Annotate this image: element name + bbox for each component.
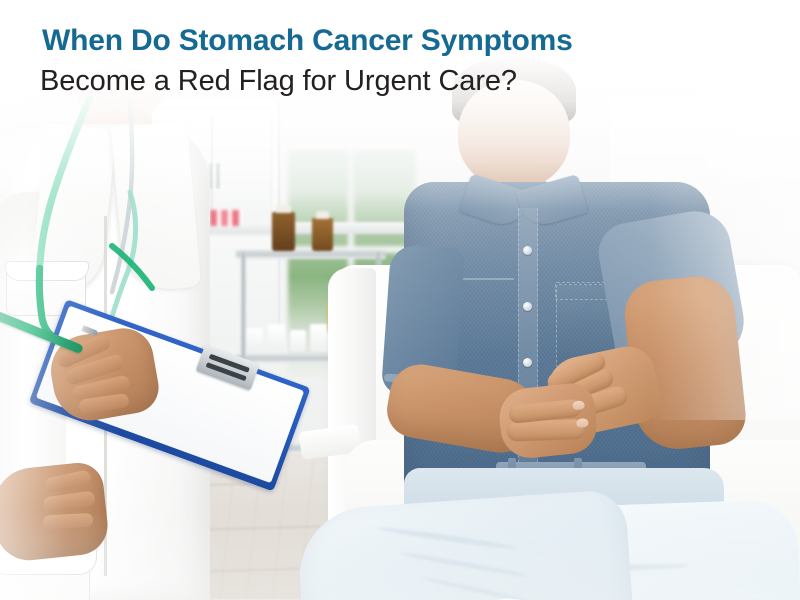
headline-line-1: When Do Stomach Cancer Symptoms xyxy=(42,22,742,60)
doctor-figure xyxy=(0,96,280,600)
headline-block: When Do Stomach Cancer Symptoms Become a… xyxy=(42,22,742,100)
patient-left-hand xyxy=(497,381,600,461)
shirt-button xyxy=(523,302,532,311)
article-banner: When Do Stomach Cancer Symptoms Become a… xyxy=(0,0,800,600)
amber-medicine-bottle xyxy=(312,218,333,251)
patient-figure xyxy=(380,96,780,600)
doctor-supporting-hand xyxy=(0,460,111,563)
white-vial xyxy=(290,330,306,352)
shirt-button xyxy=(523,246,532,255)
white-vial xyxy=(310,324,328,352)
headline-line-2: Become a Red Flag for Urgent Care? xyxy=(40,62,742,100)
shirt-button xyxy=(523,358,532,367)
